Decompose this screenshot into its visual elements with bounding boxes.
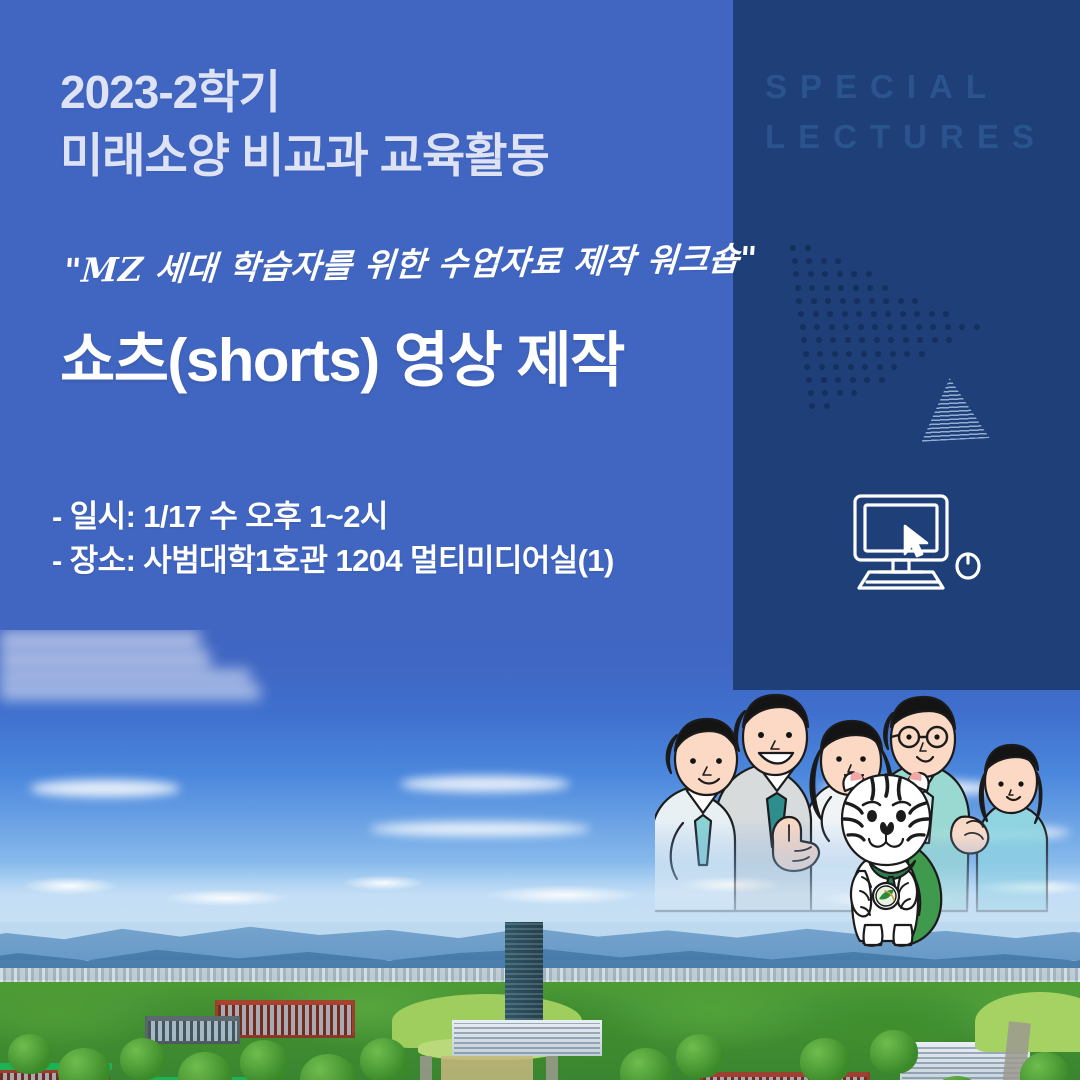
decorative-dot [835, 258, 841, 264]
decorative-dot [824, 403, 830, 409]
decorative-dot [817, 351, 823, 357]
decorative-dot [801, 337, 807, 343]
decorative-dot [875, 351, 881, 357]
campus-grounds [0, 982, 1080, 1080]
tiger-mascot [815, 765, 965, 950]
decorative-dot [916, 324, 922, 330]
decorative-dot [887, 324, 893, 330]
decorative-dot [816, 337, 822, 343]
decorative-dot [804, 364, 810, 370]
decorative-dot [914, 311, 920, 317]
decorative-dot [917, 337, 923, 343]
decorative-dot [837, 390, 843, 396]
workshop-subtitle: "MZ 세대 학습자를 위한 수업자료 제작 워크숍" [62, 232, 759, 292]
decorative-dot [795, 285, 801, 291]
decorative-dot [866, 271, 872, 277]
decorative-dot [821, 258, 827, 264]
decorative-dot [903, 337, 909, 343]
decorative-dot [848, 364, 854, 370]
decorative-dot [912, 298, 918, 304]
decorative-dot [813, 311, 819, 317]
kicker-line-2: 미래소양 비교과 교육활동 [60, 131, 549, 182]
person-1 [655, 719, 737, 911]
detail-location: - 장소: 사범대학1호관 1204 멀티미디어실(1) [52, 539, 614, 583]
decorative-dot [919, 351, 925, 357]
decorative-dot [837, 271, 843, 277]
decorative-dot [861, 351, 867, 357]
decorative-dot [822, 390, 828, 396]
kicker-line-1: 2023-2학기 [60, 66, 280, 118]
decorative-dot [819, 364, 825, 370]
decorative-dot [859, 337, 865, 343]
decorative-dot [851, 390, 857, 396]
decorative-dot [891, 364, 897, 370]
decorative-dot [854, 298, 860, 304]
decorative-dot [853, 285, 859, 291]
decorative-dot [798, 311, 804, 317]
decorative-dot [806, 258, 812, 264]
decorative-dot [827, 311, 833, 317]
main-hall [452, 1020, 602, 1056]
decorative-dot [829, 324, 835, 330]
decorative-dot [833, 364, 839, 370]
decorative-dot [846, 351, 852, 357]
decorative-dot [877, 364, 883, 370]
detail-datetime: - 일시: 1/17 수 오후 1~2시 [52, 495, 614, 539]
decorative-dot [974, 324, 980, 330]
decorative-dot [830, 337, 836, 343]
decorative-dot [871, 311, 877, 317]
decorative-dot [796, 298, 802, 304]
decorative-dot [824, 285, 830, 291]
decorative-dot [858, 324, 864, 330]
decorative-dot [864, 377, 870, 383]
badge-line-2: LECTURES [765, 112, 1065, 162]
decorative-dot [832, 351, 838, 357]
decorative-dot [898, 298, 904, 304]
decorative-dot [885, 311, 891, 317]
event-details: - 일시: 1/17 수 오후 1~2시 - 장소: 사범대학1호관 1204 … [52, 495, 614, 583]
special-lectures-badge: SPECIAL LECTURES [765, 62, 1065, 161]
decorative-dot [809, 285, 815, 291]
decorative-dot [822, 271, 828, 277]
decorative-dot [882, 285, 888, 291]
decorative-dot [874, 337, 880, 343]
decorative-dot [904, 351, 910, 357]
decorative-dot [806, 377, 812, 383]
decorative-dot [808, 271, 814, 277]
decorative-dot [842, 311, 848, 317]
decorative-dot [932, 337, 938, 343]
decorative-dot [838, 285, 844, 291]
decorative-dot [943, 311, 949, 317]
decorative-dot [879, 377, 885, 383]
decorative-dot [800, 324, 806, 330]
decorative-dot [883, 298, 889, 304]
decorative-dot [840, 298, 846, 304]
decorative-dot [811, 298, 817, 304]
decorative-dot [821, 377, 827, 383]
decorative-dot [845, 337, 851, 343]
desktop-computer-icon [845, 490, 995, 595]
decorative-dot [835, 377, 841, 383]
decorative-dot [808, 390, 814, 396]
decorative-dot [930, 324, 936, 330]
page-title: 쇼츠(shorts) 영상 제작 [60, 312, 624, 399]
decorative-dot [856, 311, 862, 317]
decorative-dot [867, 285, 873, 291]
decorative-dot [814, 324, 820, 330]
decorative-dot [869, 298, 875, 304]
person-5 [977, 745, 1047, 911]
decorative-dot [805, 245, 811, 251]
decorative-dot [929, 311, 935, 317]
decorative-dot [809, 403, 815, 409]
decorative-dot [790, 245, 796, 251]
decorative-dot [850, 377, 856, 383]
decorative-dot [843, 324, 849, 330]
decorative-dot [900, 311, 906, 317]
decorative-dot [890, 351, 896, 357]
decorative-dot [888, 337, 894, 343]
dot-triangle-icon [790, 245, 950, 420]
decorative-dot [872, 324, 878, 330]
decorative-dot [862, 364, 868, 370]
decorative-dot [901, 324, 907, 330]
decorative-dot [792, 258, 798, 264]
decorative-dot [945, 324, 951, 330]
badge-line-1: SPECIAL [765, 62, 1065, 112]
decorative-dot [825, 298, 831, 304]
page-kicker: 2023-2학기 미래소양 비교과 교육활동 [60, 68, 549, 181]
poster-canvas: SPECIAL LECTURES 2023-2학기 미래소양 비교과 교육활동 … [0, 0, 1080, 1080]
decorative-dot [793, 271, 799, 277]
decorative-dot [803, 351, 809, 357]
decorative-dot [851, 271, 857, 277]
